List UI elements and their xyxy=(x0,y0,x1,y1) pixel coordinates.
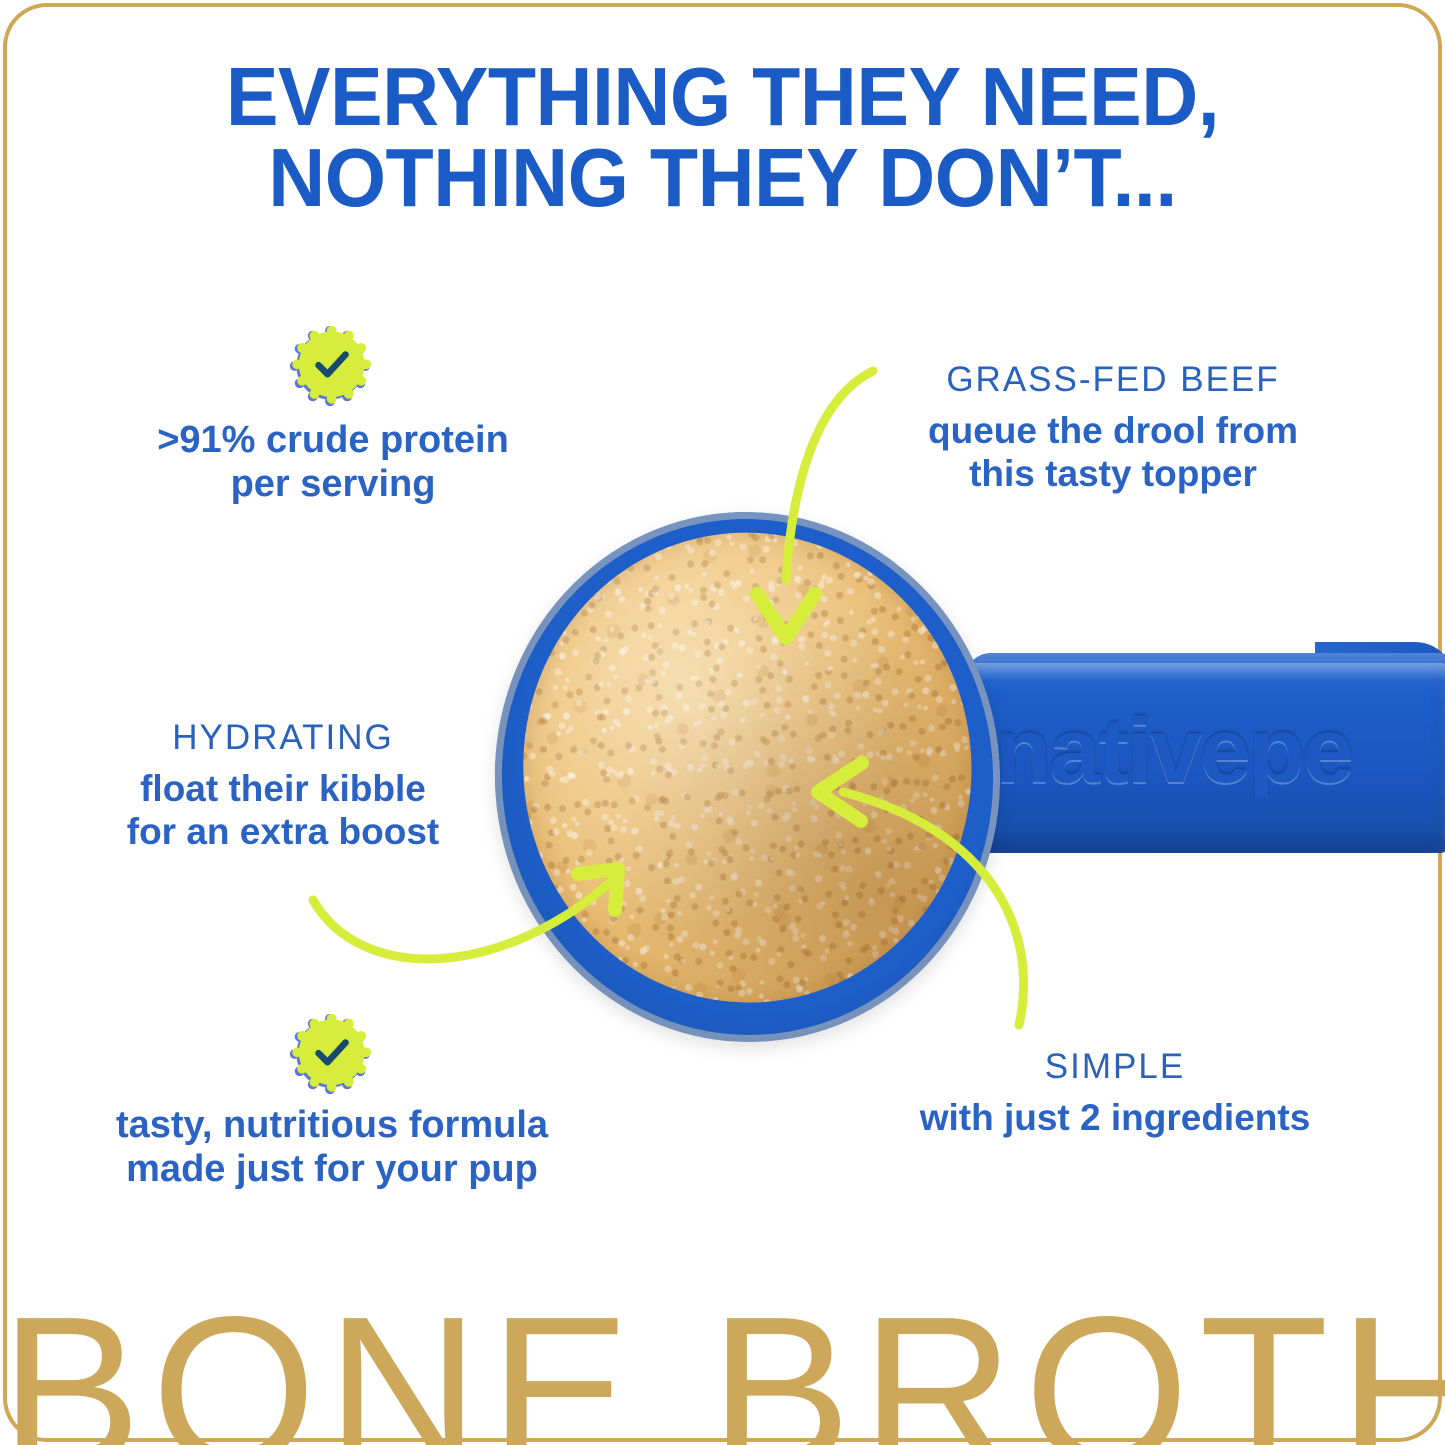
check-badge-icon xyxy=(289,1013,371,1095)
callout-simple-body: with just 2 ingredients xyxy=(900,1097,1330,1140)
scoop-handle-embossed-text: nativepe xyxy=(995,705,1445,797)
measuring-scoop-image: nativepe xyxy=(450,490,1445,1060)
callout-simple: SIMPLE with just 2 ingredients xyxy=(900,1047,1330,1140)
callout-hydrating: HYDRATING float their kibble for an extr… xyxy=(83,718,483,854)
callout-protein: >91% crude protein per serving xyxy=(113,418,553,506)
product-wordmark: BONE BROTH xyxy=(0,1285,1445,1445)
check-badge-icon xyxy=(289,325,371,407)
callout-simple-title: SIMPLE xyxy=(900,1047,1330,1087)
callout-grass-fed-line-1: queue the drool from xyxy=(898,410,1328,453)
callout-hydrating-line-2: for an extra boost xyxy=(83,811,483,854)
callout-grass-fed-title: GRASS-FED BEEF xyxy=(898,360,1328,400)
callout-hydrating-title: HYDRATING xyxy=(83,718,483,758)
callout-grass-fed-body: queue the drool from this tasty topper xyxy=(898,410,1328,496)
infographic-canvas: EVERYTHING THEY NEED, NOTHING THEY DON’T… xyxy=(0,0,1445,1445)
callout-grass-fed-beef: GRASS-FED BEEF queue the drool from this… xyxy=(898,360,1328,496)
scoop-handle: nativepe xyxy=(965,653,1445,853)
callout-hydrating-line-1: float their kibble xyxy=(83,768,483,811)
callout-formula-line-2: made just for your pup xyxy=(112,1147,552,1191)
callout-hydrating-body: float their kibble for an extra boost xyxy=(83,768,483,854)
headline-line-1: EVERYTHING THEY NEED, xyxy=(226,50,1219,143)
callout-simple-line-1: with just 2 ingredients xyxy=(900,1097,1330,1140)
page-title: EVERYTHING THEY NEED, NOTHING THEY DON’T… xyxy=(36,56,1409,219)
callout-formula-line-1: tasty, nutritious formula xyxy=(112,1103,552,1147)
callout-grass-fed-line-2: this tasty topper xyxy=(898,453,1328,496)
callout-protein-line-2: per serving xyxy=(113,462,553,506)
callout-protein-line-1: >91% crude protein xyxy=(113,418,553,462)
callout-formula-body: tasty, nutritious formula made just for … xyxy=(112,1103,552,1191)
headline-line-2: NOTHING THEY DON’T... xyxy=(36,137,1409,218)
callout-protein-body: >91% crude protein per serving xyxy=(113,418,553,506)
scoop-bowl xyxy=(477,495,1018,1059)
callout-formula: tasty, nutritious formula made just for … xyxy=(112,1103,552,1191)
